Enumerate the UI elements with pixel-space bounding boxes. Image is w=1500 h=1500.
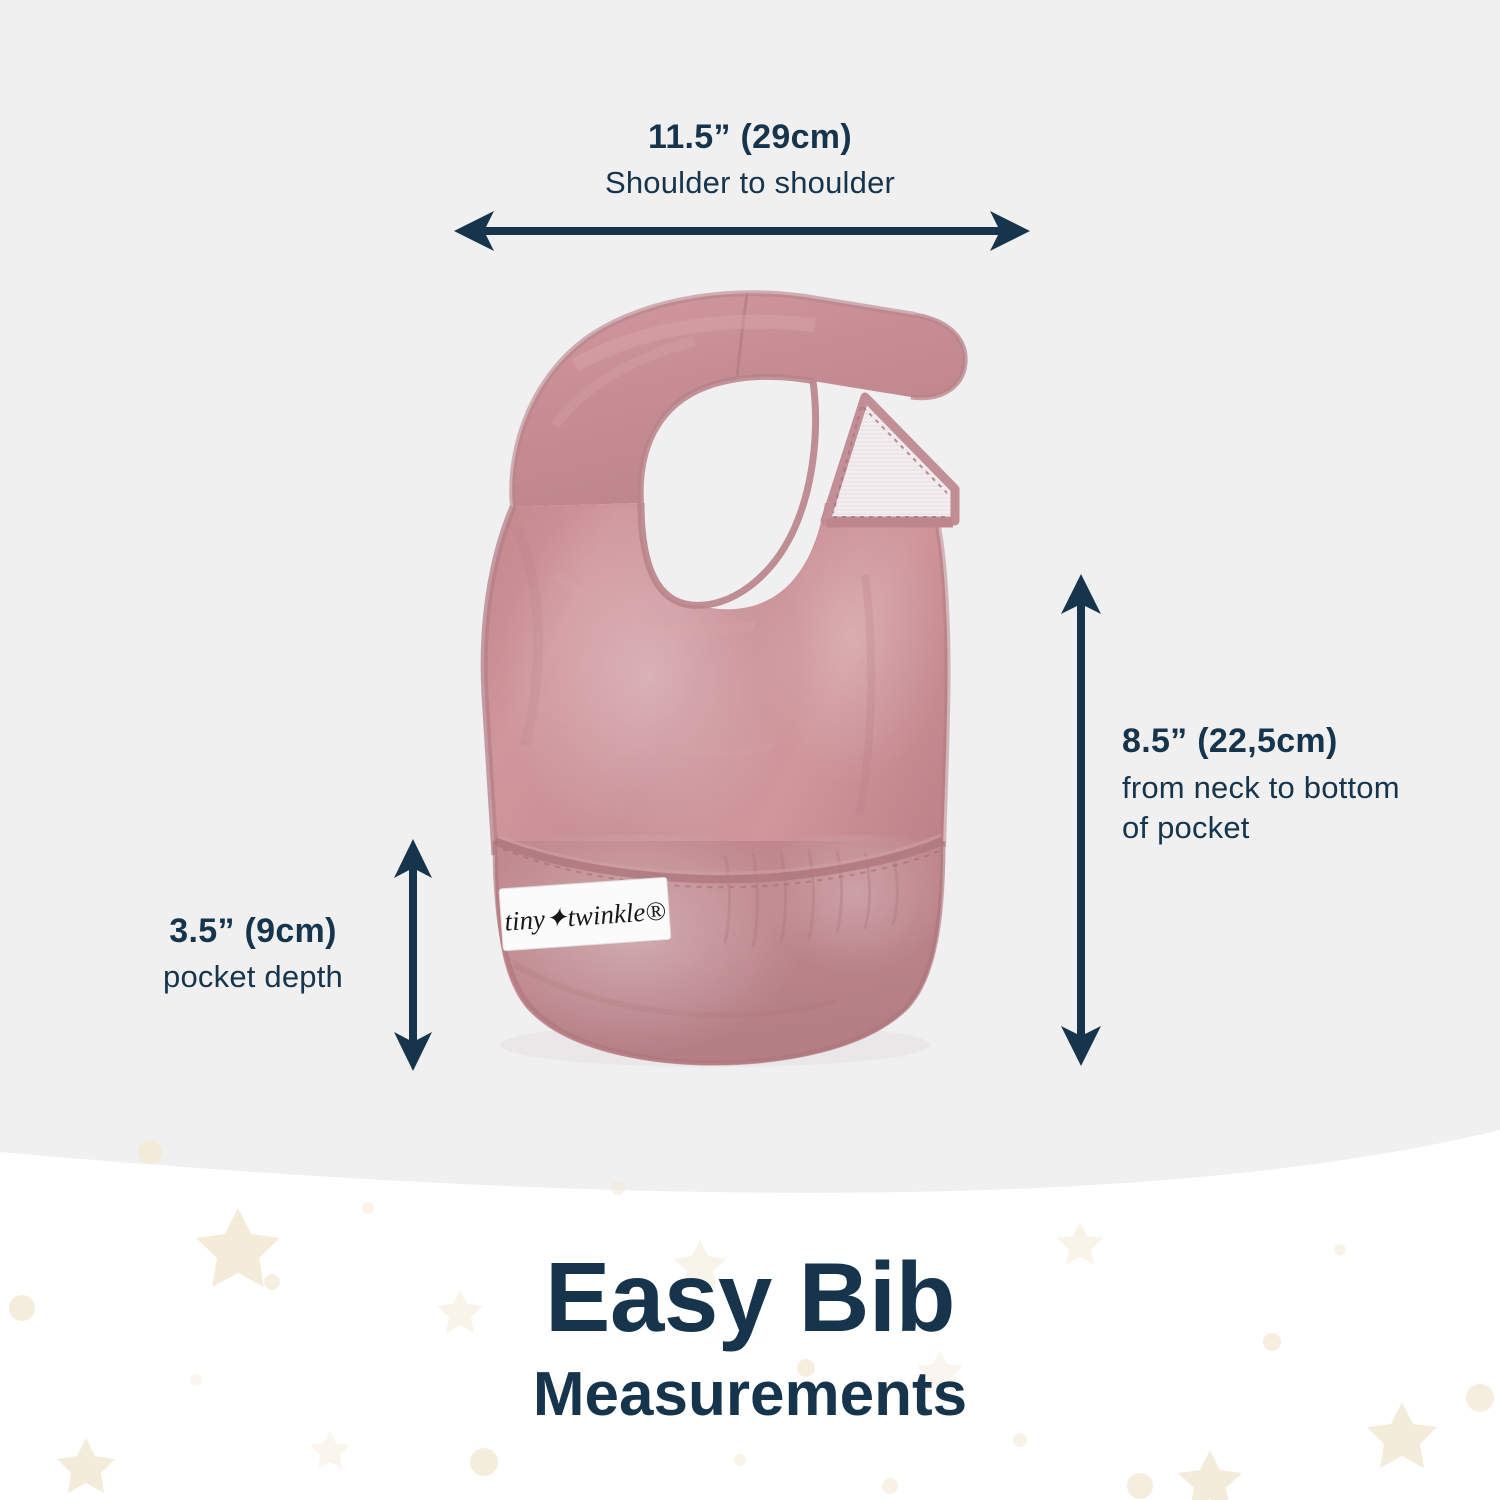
neck-to-pocket-dimension-description: from neck to bottom of pocket [1122,768,1422,847]
dimension-shoulder-to-shoulder: 11.5” (29cm) Shoulder to shoulder [0,118,1500,203]
product-subtitle: Measurements [0,1364,1500,1426]
title-block: Easy Bib Measurements [0,1248,1500,1426]
shoulder-dimension-value: 11.5” (29cm) [0,118,1500,157]
horizontal-double-arrow-icon [450,205,1050,260]
pocket-depth-dimension-description: pocket depth [118,957,388,997]
bib-neck-opening [641,377,816,605]
dimension-neck-to-pocket: 8.5” (22,5cm) from neck to bottom of poc… [1122,722,1422,847]
shoulder-dimension-description: Shoulder to shoulder [0,163,1500,203]
infographic-canvas: 11.5” (29cm) Shoulder to shoulder 8.5” (… [0,0,1500,1500]
brand-label: tiny✦twinkle® [499,877,671,951]
pocket-depth-dimension-value: 3.5” (9cm) [118,912,388,951]
dimension-pocket-depth: 3.5” (9cm) pocket depth [118,912,388,997]
bib-mesh-panel [825,397,955,523]
neck-to-pocket-dimension-value: 8.5” (22,5cm) [1122,722,1422,761]
product-title: Easy Bib [0,1248,1500,1346]
product-image-easy-bib: tiny✦twinkle® [395,275,1035,1075]
vertical-double-arrow-icon-right [1055,570,1110,1070]
